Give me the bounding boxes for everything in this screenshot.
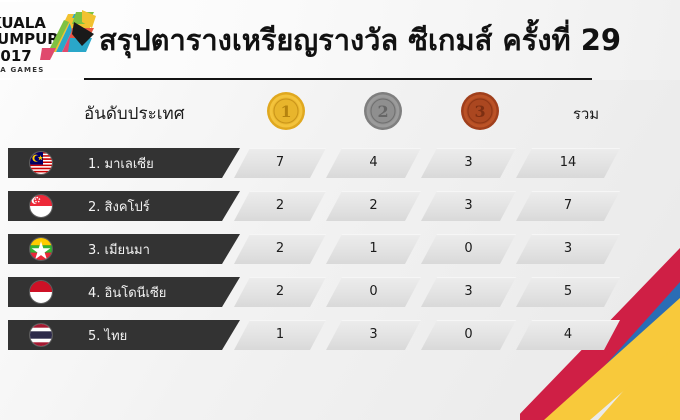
gold-count-cell: 7 xyxy=(234,148,326,179)
country-name-band: 2. สิงคโปร์ xyxy=(8,191,240,221)
country-label: 1. มาเลเซีย xyxy=(88,153,154,174)
column-header-row: อันดับประเทศ 1 xyxy=(0,86,680,140)
header-divider xyxy=(84,78,592,80)
gold-count: 2 xyxy=(234,241,326,256)
silver-count: 0 xyxy=(326,284,421,299)
gold-count: 2 xyxy=(234,198,326,213)
gold-count: 7 xyxy=(234,155,326,170)
medal-table-graphic: KUALA LUMPUR 2017 SEA GAMES xyxy=(0,0,680,420)
gold-count: 1 xyxy=(234,327,326,342)
singapore-flag-icon xyxy=(30,195,52,217)
svg-text:3: 3 xyxy=(474,102,485,121)
gold-count-cell: 2 xyxy=(234,234,326,265)
gold-count: 2 xyxy=(234,284,326,299)
bronze-count: 3 xyxy=(421,155,516,170)
total-count-cell: 3 xyxy=(516,234,620,265)
country-label: 3. เมียนมา xyxy=(88,239,150,260)
total-count-cell: 4 xyxy=(516,320,620,351)
country-name-band: 5. ไทย xyxy=(8,320,240,350)
svg-text:LUMPUR: LUMPUR xyxy=(0,30,59,48)
bronze-count: 0 xyxy=(421,327,516,342)
bronze-count-cell: 0 xyxy=(421,320,516,351)
total-count-cell: 14 xyxy=(516,148,620,179)
silver-count-cell: 0 xyxy=(326,277,421,308)
bronze-count-cell: 3 xyxy=(421,277,516,308)
silver-count-cell: 4 xyxy=(326,148,421,179)
thailand-flag-icon xyxy=(30,324,52,346)
total-count-cell: 5 xyxy=(516,277,620,308)
gold-count-cell: 2 xyxy=(234,191,326,222)
silver-count: 1 xyxy=(326,241,421,256)
country-name-band: 3. เมียนมา xyxy=(8,234,240,264)
table-row: 1. มาเลเซีย 7 4 3 14 xyxy=(0,148,680,178)
total-count: 3 xyxy=(516,241,620,256)
total-count: 14 xyxy=(516,155,620,170)
svg-text:SEA GAMES: SEA GAMES xyxy=(0,66,44,74)
silver-count-cell: 2 xyxy=(326,191,421,222)
total-count: 7 xyxy=(516,198,620,213)
gold-count-cell: 2 xyxy=(234,277,326,308)
country-label: 5. ไทย xyxy=(88,325,127,346)
svg-text:2017: 2017 xyxy=(0,47,32,65)
country-name-band: 1. มาเลเซีย xyxy=(8,148,240,178)
total-count: 5 xyxy=(516,284,620,299)
bronze-count-cell: 0 xyxy=(421,234,516,265)
country-label: 4. อินโดนีเซีย xyxy=(88,282,166,303)
gold-count-cell: 1 xyxy=(234,320,326,351)
svg-text:1: 1 xyxy=(280,102,291,121)
bronze-count: 3 xyxy=(421,284,516,299)
total-count: 4 xyxy=(516,327,620,342)
total-count-cell: 7 xyxy=(516,191,620,222)
page-title: สรุปตารางเหรียญรางวัล ซีเกมส์ ครั้งที่ 2… xyxy=(99,15,621,65)
bronze-medal-icon: 3 xyxy=(459,90,501,132)
sea-games-logo-icon: KUALA LUMPUR 2017 SEA GAMES xyxy=(0,2,102,78)
silver-count: 3 xyxy=(326,327,421,342)
silver-count: 4 xyxy=(326,155,421,170)
table-row: 4. อินโดนีเซีย 2 0 3 5 xyxy=(0,277,680,307)
svg-text:2: 2 xyxy=(377,102,388,121)
silver-count: 2 xyxy=(326,198,421,213)
silver-count-cell: 1 xyxy=(326,234,421,265)
header-bar: KUALA LUMPUR 2017 SEA GAMES xyxy=(0,0,680,80)
table-row: 5. ไทย 1 3 0 4 xyxy=(0,320,680,350)
silver-count-cell: 3 xyxy=(326,320,421,351)
column-header-total: รวม xyxy=(546,102,626,126)
country-label: 2. สิงคโปร์ xyxy=(88,196,150,217)
table-row: 2. สิงคโปร์ 2 2 3 7 xyxy=(0,191,680,221)
table-row: 3. เมียนมา 2 1 0 3 xyxy=(0,234,680,264)
gold-medal-icon: 1 xyxy=(265,90,307,132)
malaysia-flag-icon xyxy=(30,152,52,174)
silver-medal-icon: 2 xyxy=(362,90,404,132)
bronze-count: 3 xyxy=(421,198,516,213)
indonesia-flag-icon xyxy=(30,281,52,303)
myanmar-flag-icon xyxy=(30,238,52,260)
bronze-count: 0 xyxy=(421,241,516,256)
column-header-country: อันดับประเทศ xyxy=(84,100,185,127)
country-name-band: 4. อินโดนีเซีย xyxy=(8,277,240,307)
bronze-count-cell: 3 xyxy=(421,191,516,222)
bronze-count-cell: 3 xyxy=(421,148,516,179)
